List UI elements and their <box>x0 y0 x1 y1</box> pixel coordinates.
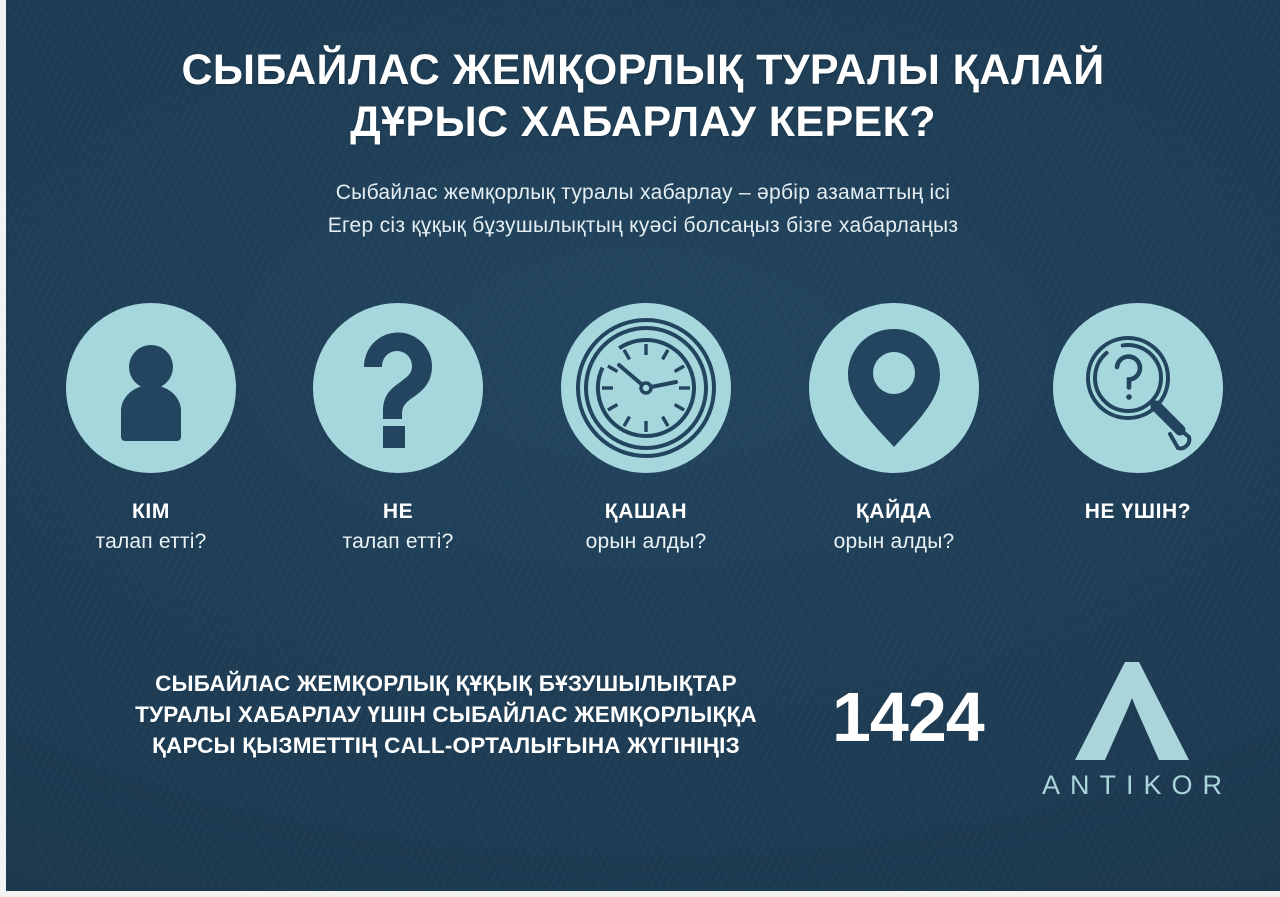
item-why: НЕ ҮШІН? <box>1028 303 1248 527</box>
item-label-bold: НЕ <box>288 497 508 527</box>
item-when: ҚАШАН орын алды? <box>536 303 756 557</box>
item-caption: НЕ талап етті? <box>288 497 508 557</box>
item-label-bold: ҚАШАН <box>536 497 756 527</box>
icon-circle <box>1053 303 1223 473</box>
antikor-wordmark: ANTIKOR <box>1032 770 1232 800</box>
magnifier-question-icon <box>1075 325 1201 451</box>
item-caption: ҚАШАН орын алды? <box>536 497 756 557</box>
subtitle-line-1: Сыбайлас жемқорлық туралы хабарлау – әрб… <box>6 176 1280 209</box>
item-caption: КІМ талап етті? <box>41 497 261 557</box>
item-label-regular: орын алды? <box>536 527 756 557</box>
icon-circle <box>313 303 483 473</box>
map-pin-icon <box>842 325 946 451</box>
footer-line-2: ТУРАЛЫ ХАБАРЛАУ ҮШІН СЫБАЙЛАС ЖЕМҚОРЛЫҚҚ… <box>66 699 826 730</box>
page-title: СЫБАЙЛАС ЖЕМҚОРЛЫҚ ТУРАЛЫ ҚАЛАЙ ДҰРЫС ХА… <box>6 44 1280 148</box>
item-label-bold: ҚАЙДА <box>784 497 1004 527</box>
antikor-logo: ANTIKOR <box>1032 660 1232 800</box>
footer-line-3: ҚАРСЫ ҚЫЗМЕТТІҢ CALL-ОРТАЛЫҒЫНА ЖҮГІНІҢІ… <box>66 730 826 761</box>
hotline-number[interactable]: 1424 <box>832 682 984 752</box>
item-label-regular: орын алды? <box>784 527 1004 557</box>
infographic-poster: СЫБАЙЛАС ЖЕМҚОРЛЫҚ ТУРАЛЫ ҚАЛАЙ ДҰРЫС ХА… <box>6 0 1280 891</box>
subtitle: Сыбайлас жемқорлық туралы хабарлау – әрб… <box>6 176 1280 242</box>
clock-icon <box>572 314 720 462</box>
icon-circle <box>809 303 979 473</box>
person-icon <box>96 333 206 443</box>
title-line-2: ДҰРЫС ХАБАРЛАУ КЕРЕК? <box>6 96 1280 148</box>
question-mark-icon <box>343 328 453 448</box>
icon-row: КІМ талап етті? НЕ талап етті? <box>6 303 1280 573</box>
footer: СЫБАЙЛАС ЖЕМҚОРЛЫҚ ҚҰҚЫҚ БҰЗУШЫЛЫҚТАР ТУ… <box>6 660 1280 800</box>
item-label-regular: талап етті? <box>41 527 261 557</box>
icon-circle <box>66 303 236 473</box>
item-label-bold: КІМ <box>41 497 261 527</box>
item-what: НЕ талап етті? <box>288 303 508 557</box>
item-who: КІМ талап етті? <box>41 303 261 557</box>
item-caption: НЕ ҮШІН? <box>1028 497 1248 527</box>
item-label-regular: талап етті? <box>288 527 508 557</box>
antikor-a-mark-icon <box>1073 660 1191 764</box>
icon-circle <box>561 303 731 473</box>
footer-line-1: СЫБАЙЛАС ЖЕМҚОРЛЫҚ ҚҰҚЫҚ БҰЗУШЫЛЫҚТАР <box>66 668 826 699</box>
subtitle-line-2: Егер сіз құқық бұзушылықтың куәсі болсаң… <box>6 209 1280 242</box>
item-where: ҚАЙДА орын алды? <box>784 303 1004 557</box>
title-line-1: СЫБАЙЛАС ЖЕМҚОРЛЫҚ ТУРАЛЫ ҚАЛАЙ <box>6 44 1280 96</box>
item-label-bold: НЕ ҮШІН? <box>1028 497 1248 527</box>
item-caption: ҚАЙДА орын алды? <box>784 497 1004 557</box>
footer-text-block: СЫБАЙЛАС ЖЕМҚОРЛЫҚ ҚҰҚЫҚ БҰЗУШЫЛЫҚТАР ТУ… <box>66 668 826 761</box>
